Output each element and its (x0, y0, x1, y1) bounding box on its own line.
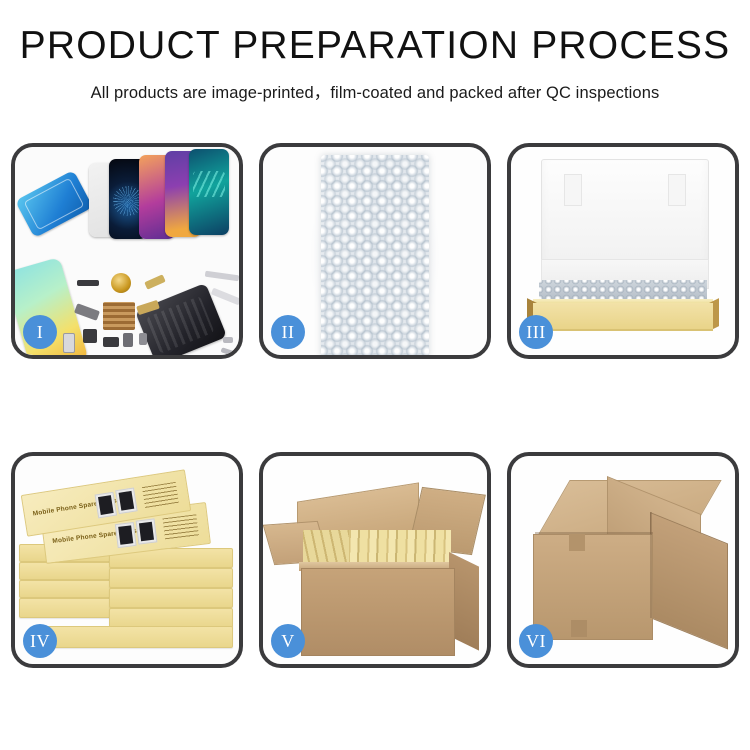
part-screw-b (221, 347, 234, 355)
part-ribbon-cable (74, 303, 100, 321)
sealed-carton-tab-bottom (571, 620, 587, 637)
part-camera (139, 333, 147, 345)
sealed-carton-tab-top (569, 534, 585, 551)
retail-box-thumb-middle-a (115, 522, 137, 548)
process-steps-grid: I Mobile phone screens, displays and dis… (11, 143, 739, 668)
page-subtitle: All products are image-printed，film-coat… (0, 79, 750, 103)
sealed-carton-side-panel (650, 512, 728, 650)
part-tweezers (205, 271, 239, 282)
step-card-6[interactable]: VI Sealed brown shipping carton ready fo… (507, 452, 739, 668)
part-sim-tray (63, 333, 75, 353)
step-card-1[interactable]: I Mobile phone screens, displays and dis… (11, 143, 243, 359)
part-coil (111, 273, 131, 293)
part-screw-a (223, 337, 233, 343)
step-badge-4: IV (23, 624, 57, 658)
part-bracket (77, 280, 99, 286)
sealed-carton-seam-top (535, 532, 653, 534)
step-card-5[interactable]: V Open brown shipping carton filled with… (259, 452, 491, 668)
part-chip (83, 329, 97, 343)
mailer-lid-tab-right (668, 174, 686, 206)
part-speaker (123, 333, 133, 347)
retail-box-stack-left-4 (19, 598, 113, 618)
adhesive-sheet-blue (15, 170, 93, 238)
retail-box-stack-bottom (45, 626, 233, 648)
phone-display-teal (189, 149, 229, 235)
retail-box-thumb-top-a (95, 492, 118, 519)
step-badge-2: II (271, 315, 305, 349)
page-title: PRODUCT PREPARATION PROCESS (0, 26, 750, 67)
retail-box-stack-left-2 (19, 562, 113, 580)
step-badge-1: I (23, 315, 57, 349)
part-connector-grid (103, 302, 135, 330)
retail-box-thumb-top-b (115, 487, 138, 514)
retail-box-spec-lines-top (142, 482, 179, 509)
part-flex-cable (144, 274, 166, 289)
retail-box-stack-right-2 (109, 568, 233, 588)
retail-box-spec-lines-middle (162, 514, 198, 540)
step-card-4[interactable]: Mobile Phone Spare Parts Mobile Phone Sp… (11, 452, 243, 668)
mailer-box-front (533, 303, 713, 331)
sealed-carton-seam-edge (650, 512, 652, 618)
carton-front-panel (301, 568, 455, 656)
sealed-carton-front-panel (533, 534, 653, 640)
bubble-wrap-sheet (321, 155, 429, 355)
retail-box-stack-right-3 (109, 588, 233, 608)
step-card-2[interactable]: II Product wrapped in clear bubble wrap … (259, 143, 491, 359)
step-badge-6: VI (519, 624, 553, 658)
retail-box-stack-right-4 (109, 608, 233, 628)
page-header: PRODUCT PREPARATION PROCESS All products… (0, 0, 750, 103)
step-badge-3: III (519, 315, 553, 349)
part-screwdriver (211, 288, 239, 306)
mailer-lid-tab-left (564, 174, 582, 206)
part-module (103, 337, 119, 347)
step-badge-5: V (271, 624, 305, 658)
retail-box-thumb-middle-b (136, 518, 158, 544)
retail-box-stack-left-3 (19, 580, 113, 598)
step-card-3[interactable]: III Bubble-wrapped item placed inside an… (507, 143, 739, 359)
